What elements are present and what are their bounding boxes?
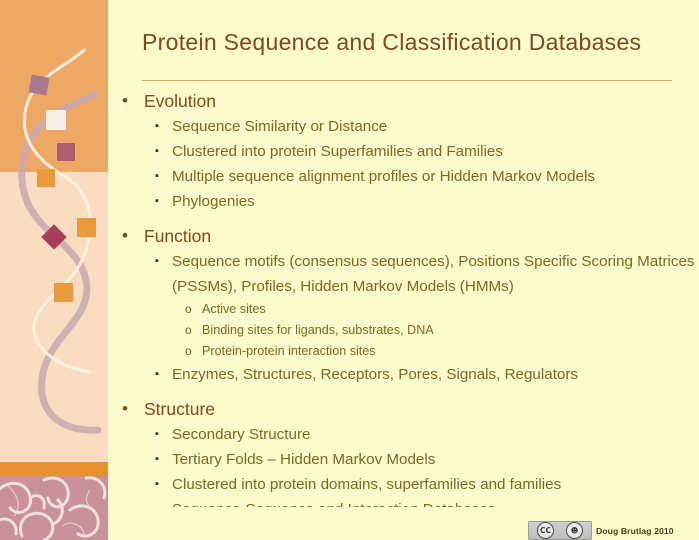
author-credit: Doug Brutlag 2010	[596, 526, 674, 536]
bullet-circle-icon: o	[185, 299, 192, 320]
section-spacer	[108, 387, 699, 396]
outline-subitem: o Active sites	[108, 299, 699, 320]
bullet-square-icon: ▪	[155, 164, 159, 189]
outline-subitem: o Binding sites for ligands, substrates,…	[108, 320, 699, 341]
bullet-square-icon: ▪	[155, 447, 159, 472]
cc-by-person-icon: ☻	[566, 522, 583, 539]
section-spacer	[108, 214, 699, 223]
title-divider	[142, 80, 672, 81]
outline-text: Phylogenies	[172, 193, 255, 210]
bullet-dot-icon: •	[122, 396, 128, 422]
bullet-dot-icon: •	[122, 223, 128, 249]
outline-text: Clustered into protein domains, superfam…	[172, 476, 561, 493]
bullet-square-icon: ▪	[155, 472, 159, 497]
outline-item: ▪ Clustered into protein domains, superf…	[108, 472, 699, 497]
outline-text: Structure	[144, 399, 215, 419]
outline-body: • Evolution ▪ Sequence Similarity or Dis…	[108, 88, 699, 507]
bullet-dot-icon: •	[122, 88, 128, 114]
outline-heading-function: • Function	[108, 223, 699, 249]
outline-text: Sequence Similarity or Distance	[172, 118, 387, 135]
outline-text: Active sites	[202, 302, 266, 316]
sidebar-floral-texture	[0, 476, 108, 540]
outline-text: Sequence motifs (consensus sequences), P…	[172, 253, 695, 295]
sidebar-ribbon-artwork	[0, 0, 108, 476]
outline-text: Sequence-Sequence and Interaction Databa…	[172, 501, 495, 507]
bullet-square-icon: ▪	[155, 249, 159, 274]
outline-text: Binding sites for ligands, substrates, D…	[202, 323, 434, 337]
decorative-sidebar	[0, 0, 108, 540]
outline-item: ▪ Tertiary Folds – Hidden Markov Models	[108, 447, 699, 472]
outline-text: Function	[144, 226, 211, 246]
outline-text: Clustered into protein Superfamilies and…	[172, 143, 503, 160]
sidebar-orange-strip	[0, 462, 108, 476]
outline-text: Secondary Structure	[172, 426, 310, 443]
bullet-square-icon: ▪	[155, 139, 159, 164]
slide: Protein Sequence and Classification Data…	[0, 0, 699, 540]
slide-content: Protein Sequence and Classification Data…	[108, 0, 699, 540]
outline-item: ▪ Sequence Similarity or Distance	[108, 114, 699, 139]
license-credit-block: CC ☻ Doug Brutlag 2010	[528, 521, 674, 540]
outline-item: ▪ Multiple sequence alignment profiles o…	[108, 164, 699, 189]
bullet-circle-icon: o	[185, 341, 192, 362]
outline-text: Enzymes, Structures, Receptors, Pores, S…	[172, 366, 578, 383]
bullet-square-icon: ▪	[155, 497, 159, 507]
bullet-circle-icon: o	[185, 320, 192, 341]
outline-item: ▪ Sequence motifs (consensus sequences),…	[108, 249, 699, 299]
outline-heading-evolution: • Evolution	[108, 88, 699, 114]
outline-text: Multiple sequence alignment profiles or …	[172, 168, 595, 185]
bullet-square-icon: ▪	[155, 114, 159, 139]
bullet-square-icon: ▪	[155, 362, 159, 387]
outline-item-clipped: ▪ Sequence-Sequence and Interaction Data…	[108, 497, 699, 507]
cc-circle-icon: CC	[537, 522, 554, 539]
outline-text: Evolution	[144, 91, 216, 111]
outline-item: ▪ Phylogenies	[108, 189, 699, 214]
bullet-square-icon: ▪	[155, 422, 159, 447]
creative-commons-badge[interactable]: CC ☻	[528, 521, 592, 540]
outline-text: Tertiary Folds – Hidden Markov Models	[172, 451, 435, 468]
outline-item: ▪ Clustered into protein Superfamilies a…	[108, 139, 699, 164]
outline-item: ▪ Secondary Structure	[108, 422, 699, 447]
outline-text: Protein-protein interaction sites	[202, 344, 376, 358]
slide-title: Protein Sequence and Classification Data…	[142, 29, 687, 56]
bullet-square-icon: ▪	[155, 189, 159, 214]
outline-item: ▪ Enzymes, Structures, Receptors, Pores,…	[108, 362, 699, 387]
outline-subitem: o Protein-protein interaction sites	[108, 341, 699, 362]
outline-heading-structure: • Structure	[108, 396, 699, 422]
